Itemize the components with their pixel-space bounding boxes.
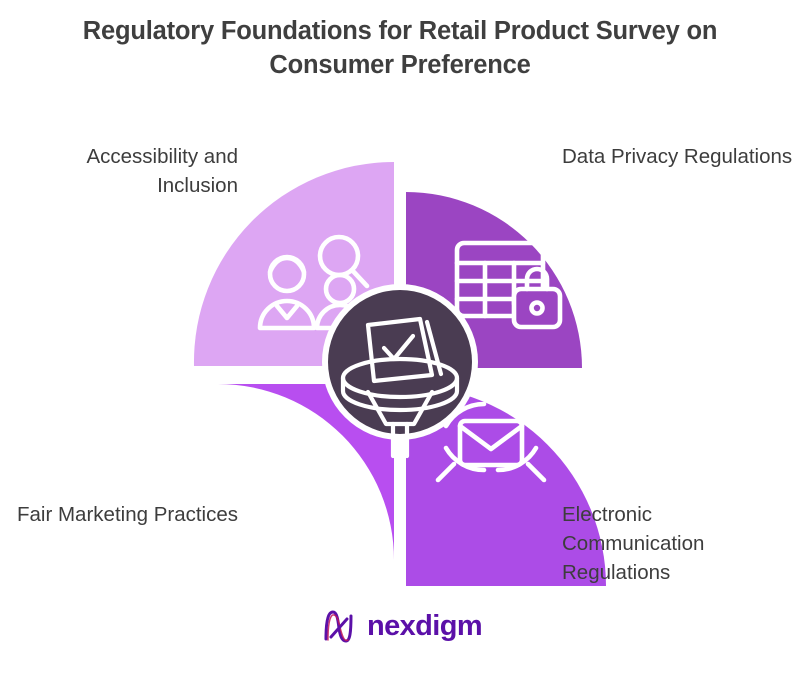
eye-handshake-icon — [236, 413, 314, 486]
brand-logo: nexdigm — [318, 606, 482, 646]
nexdigm-n-mark-icon — [318, 606, 358, 646]
quadrant-label-accessibility: Accessibility and Inclusion — [10, 142, 238, 200]
quadrant-label-electronic-communication: Electronic Communication Regulations — [562, 500, 797, 587]
page-title: Regulatory Foundations for Retail Produc… — [60, 14, 740, 82]
logo-wordmark: nexdigm — [367, 612, 482, 641]
quadrant-label-data-privacy: Data Privacy Regulations — [562, 142, 797, 171]
quadrant-label-fair-marketing: Fair Marketing Practices — [10, 500, 238, 529]
quadrant-wheel-diagram: Accessibility and Inclusion Data Privacy… — [0, 108, 800, 608]
